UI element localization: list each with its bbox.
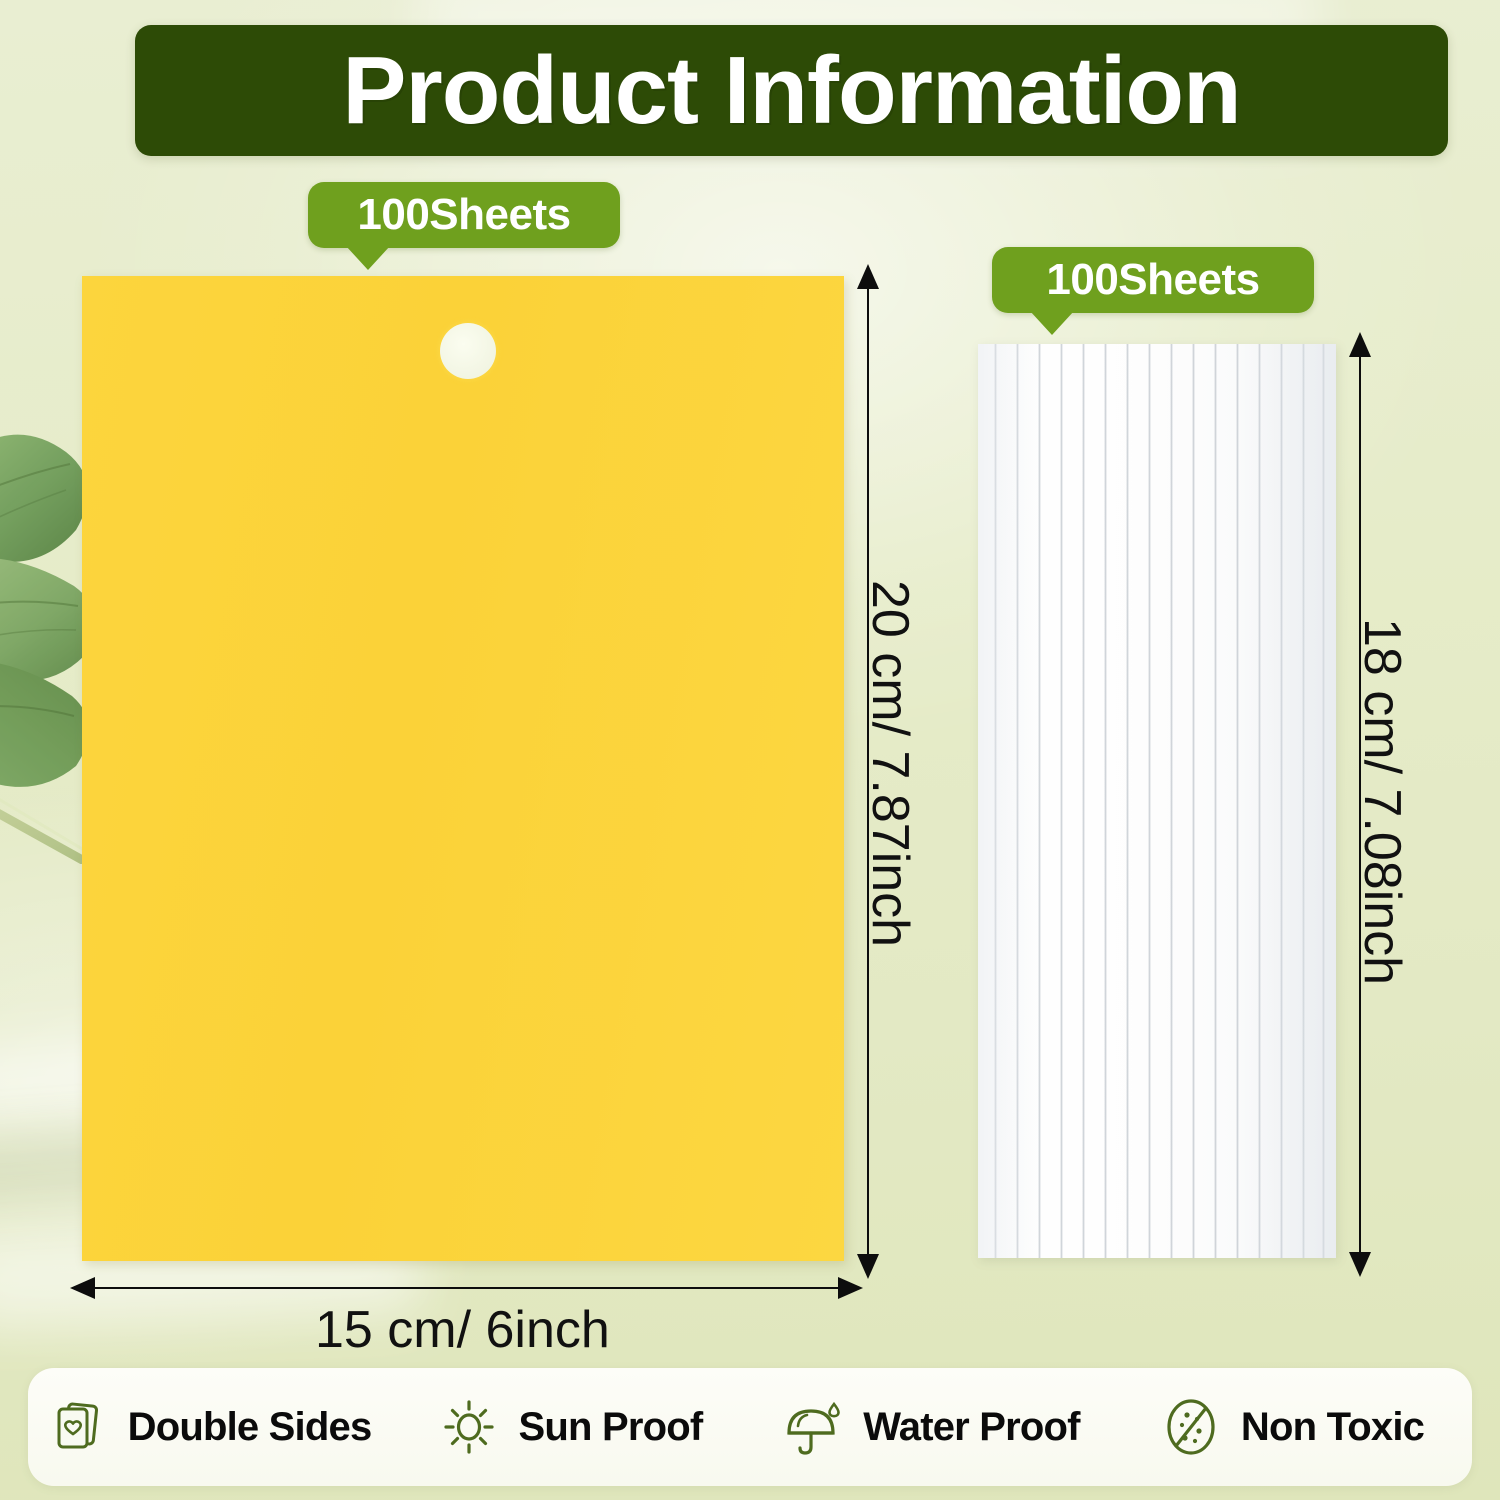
badge-sheets-yellow: 100Sheets: [308, 182, 620, 248]
dimension-label-yellow-height: 20 cm/ 7.87inch: [860, 580, 920, 947]
badge-sheets-white: 100Sheets: [992, 247, 1314, 313]
feature-item-double-sides: Double Sides: [28, 1395, 389, 1459]
feature-item-non-toxic: Non Toxic: [1111, 1395, 1472, 1459]
product-information-page: Product Information 100Sheets 100Sheets: [0, 0, 1500, 1500]
dimension-arrow-yellow-width-right: [838, 1277, 863, 1299]
sun-icon: [437, 1395, 501, 1459]
page-title: Product Information: [342, 43, 1240, 139]
feature-item-sun-proof: Sun Proof: [389, 1395, 750, 1459]
umbrella-droplet-icon: [781, 1395, 845, 1459]
feature-label-non-toxic: Non Toxic: [1241, 1405, 1424, 1450]
page-title-banner: Product Information: [135, 25, 1448, 156]
double-cards-heart-icon: [46, 1395, 110, 1459]
badge-sheets-yellow-label: 100Sheets: [357, 193, 570, 237]
dimension-arrow-yellow-width-left: [70, 1277, 95, 1299]
dimension-arrow-yellow-height-top: [857, 264, 879, 289]
feature-label-water-proof: Water Proof: [863, 1405, 1079, 1450]
white-plastic-stakes-bundle: [978, 344, 1336, 1258]
feature-bar: Double Sides: [28, 1368, 1472, 1486]
dimension-arrow-yellow-height-bottom: [857, 1254, 879, 1279]
no-toxic-crossed-circle-icon: [1159, 1395, 1223, 1459]
dimension-label-yellow-width: 15 cm/ 6inch: [315, 1300, 610, 1360]
feature-item-water-proof: Water Proof: [750, 1395, 1111, 1459]
feature-label-sun-proof: Sun Proof: [519, 1405, 703, 1450]
yellow-sticky-trap-sheet: [82, 276, 844, 1261]
badge-tail-white: [1030, 311, 1074, 335]
feature-label-double-sides: Double Sides: [128, 1405, 372, 1450]
badge-tail-yellow: [346, 246, 390, 270]
dimension-label-stakes-height: 18 cm/ 7.08inch: [1352, 618, 1412, 985]
dimension-line-yellow-width: [84, 1287, 844, 1289]
punch-hole-icon: [440, 323, 496, 379]
badge-sheets-white-label: 100Sheets: [1046, 258, 1259, 302]
dimension-arrow-stakes-height-bottom: [1349, 1252, 1371, 1277]
dimension-arrow-stakes-height-top: [1349, 332, 1371, 357]
